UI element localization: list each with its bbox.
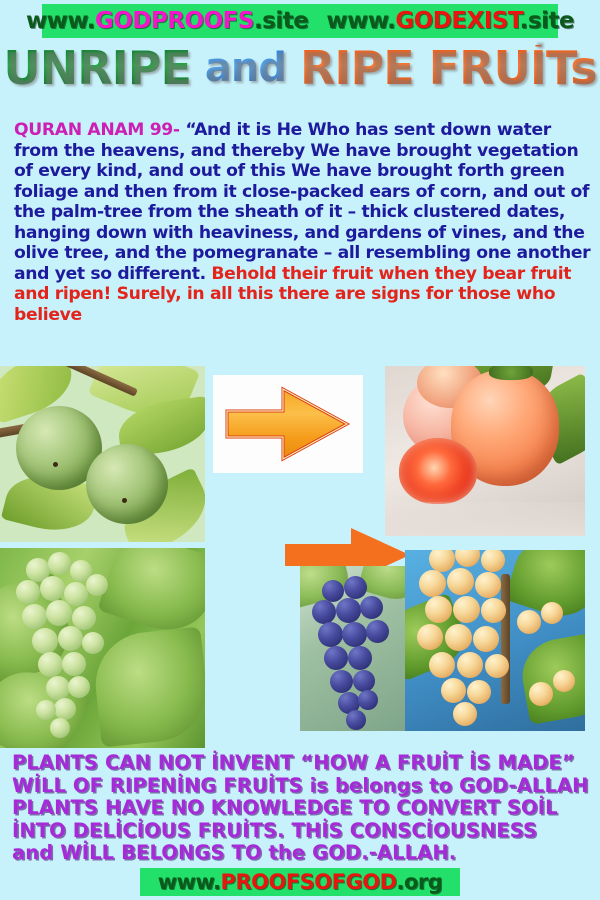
grape-berry [62,652,86,676]
statement-line: and WİLL BELONGS TO the GOD.-ALLAH. [12,842,600,865]
grape-berry [312,600,336,624]
statement-line: PLANTS HAVE NO KNOWLEDGE TO CONVERT SOİL [12,797,600,820]
link-godexist-name: GODEXIST [395,8,519,34]
photo-purple-grapes [300,566,405,731]
bottom-url-banner: www.PROOFSOFGOD.org [140,868,460,896]
grape-berry [322,580,344,602]
photo-ripe-persimmon [385,366,585,536]
statement-line: WİLL OF RIPENİNG FRUİTS is belongs to GO… [12,775,600,798]
page-title: UNRIPE and RIPE FRUİTs [0,40,600,96]
photo-ripe-persimmon-scene [385,366,585,536]
grape-berry [445,624,472,651]
link-proofsofgod-name: PROOFSOFGOD [221,870,397,894]
arrow-right-icon [213,375,363,473]
photo-unripe-grapes [0,548,205,748]
photo-purple-grapes-scene [300,566,405,731]
grape-berry [425,596,452,623]
verse-reference: QURAN ANAM 99- [14,120,180,140]
grape-berry [336,598,361,623]
grape-berry [453,596,480,623]
grape-berry [68,676,90,698]
link-godexist-prefix: www. [326,8,395,34]
grape-berry [517,610,541,634]
grape-berry [457,652,483,678]
grape-berry [473,626,499,652]
grape-berry [485,654,509,678]
grape-berry [344,576,367,599]
poster-root: www.GODPROOFS.site www.GODEXIST.site UNR… [0,0,600,900]
fruit-stem-dot [53,462,58,467]
fruit-unripe [86,444,168,524]
grape-berry [36,700,56,720]
grape-berry [353,670,375,692]
link-godexist[interactable]: www.GODEXIST.site [326,10,574,33]
table-surface [385,502,585,536]
grape-berry [22,604,47,629]
grape-berry [441,678,466,703]
arrow-card-1 [213,375,363,473]
closing-statement: PLANTS CAN NOT İNVENT “HOW A FRUİT İS MA… [12,752,600,865]
link-godproofs-prefix: www. [26,8,95,34]
link-godproofs[interactable]: www.GODPROOFS.site [26,10,308,33]
leaf-shape [91,627,205,748]
grape-berry [318,622,343,647]
grape-berry [342,622,367,647]
grape-berry [54,698,76,720]
grape-berry [553,670,575,692]
verse-body: “And it is He Who has sent down water fr… [14,120,590,284]
grape-berry [50,718,70,738]
fruit-cut-open [399,438,477,504]
grape-berry [58,626,83,651]
fruit-calyx [489,366,533,380]
title-word-and: and [205,48,286,88]
link-godproofs-suffix: .site [254,8,308,34]
grape-berry [346,710,366,730]
grape-berry [38,652,63,677]
photo-golden-grapes [405,550,585,731]
top-url-banner: www.GODPROOFS.site www.GODEXIST.site [42,4,558,38]
statement-line: İNTO DELİCİOUS FRUİTS. THİS CONSCİOUSNES… [12,820,600,843]
link-proofsofgod-prefix: www. [158,870,221,894]
grape-berry [419,570,446,597]
grape-berry [429,550,455,572]
title-word-unripe: UNRIPE [3,45,191,91]
grape-berry [330,670,353,693]
photo-golden-grapes-scene [405,550,585,731]
grape-berry [348,646,372,670]
fruit-stem-dot [122,498,127,503]
grape-berry [360,596,383,619]
grape-berry [541,602,563,624]
grape-berry [82,632,104,654]
grape-berry [46,600,72,626]
grape-berry [40,576,65,601]
grape-berry [46,676,70,700]
grape-berry [467,680,491,704]
link-godexist-suffix: .site [520,8,574,34]
quran-verse-block: QURAN ANAM 99- “And it is He Who has sen… [14,120,598,325]
grape-berry [417,624,443,650]
link-proofsofgod[interactable]: www.PROOFSOFGOD.org [158,872,443,893]
grape-berry [475,572,501,598]
grape-berry [455,550,480,567]
grape-berry [481,550,505,572]
photo-unripe-persimmon-scene [0,366,205,542]
title-word-ripe-fruits: RIPE FRUİTs [300,45,597,91]
statement-line: PLANTS CAN NOT İNVENT “HOW A FRUİT İS MA… [12,752,600,775]
photo-unripe-grapes-scene [0,548,205,748]
link-proofsofgod-suffix: .org [397,870,443,894]
branch-shape [501,574,510,704]
photo-unripe-persimmon [0,366,205,542]
link-godproofs-name: GODPROOFS [95,8,254,34]
grape-berry [86,574,108,596]
grape-berry [447,568,474,595]
grape-berry [32,628,58,654]
grape-berry [16,580,40,604]
grape-berry [324,646,348,670]
grape-berry [358,690,378,710]
grape-berry [366,620,389,643]
grape-berry [453,702,477,726]
grape-berry [48,552,71,575]
grape-berry [529,682,553,706]
grape-berry [429,652,455,678]
grape-berry [481,598,506,623]
